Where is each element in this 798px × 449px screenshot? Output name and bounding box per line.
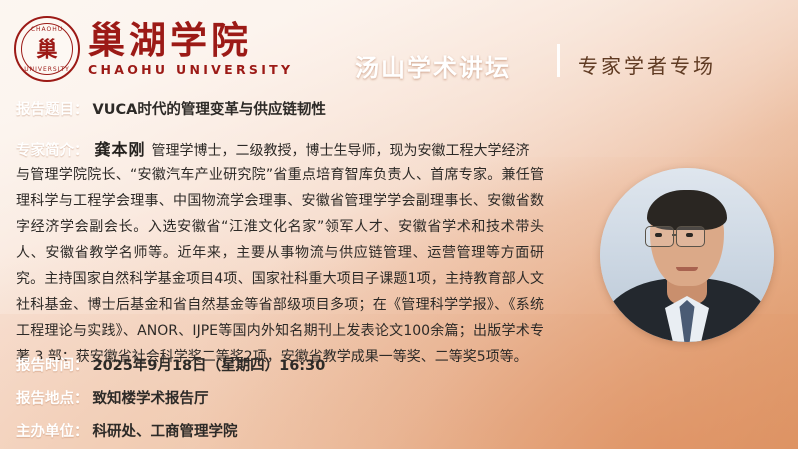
seal-bottom-text: UNIVERSITY (16, 66, 78, 73)
header-divider (557, 44, 560, 77)
speaker-lead-text: 管理学博士，二级教授，博士生导师，现为安徽工程大学经济 (152, 140, 530, 160)
seal-character: 巢 (16, 39, 78, 60)
portrait-eye-left (655, 233, 662, 237)
speaker-biography: 与管理学院院长、“安徽汽车产业研究院”省重点培育智库负责人、首席专家。兼任管理科… (16, 162, 544, 370)
speaker-intro-block: 专家简介： 龚本刚 管理学博士，二级教授，博士生导师，现为安徽工程大学经济 与管… (16, 136, 544, 370)
time-value: 2025年9月18日（星期四）16:30 (93, 354, 326, 375)
portrait-glasses-left (645, 226, 674, 247)
portrait-glasses-right (676, 226, 705, 247)
poster-header: CHAOHU 巢 UNIVERSITY 巢湖学院 CHAOHU UNIVERSI… (0, 0, 798, 92)
organizer-value: 科研处、工商管理学院 (93, 420, 238, 441)
speaker-label: 专家简介： (16, 139, 89, 160)
university-logo: CHAOHU 巢 UNIVERSITY 巢湖学院 CHAOHU UNIVERSI… (14, 16, 293, 82)
university-name-block: 巢湖学院 CHAOHU UNIVERSITY (88, 21, 293, 78)
seal-top-text: CHAOHU (16, 26, 78, 33)
portrait-eye-right (686, 233, 693, 237)
university-name-cn: 巢湖学院 (88, 21, 293, 60)
location-label: 报告地点： (16, 387, 89, 408)
forum-title: 汤山学术讲坛 (355, 48, 511, 83)
portrait-glasses-bridge (672, 234, 677, 236)
speaker-portrait (600, 168, 774, 342)
forum-subtitle: 专家学者专场 (578, 50, 716, 79)
topic-value: VUCA时代的管理变革与供应链韧性 (93, 98, 326, 119)
time-label: 报告时间： (16, 354, 89, 375)
topic-label: 报告题目： (16, 98, 89, 119)
organizer-label: 主办单位： (16, 420, 89, 441)
topic-row: 报告题目： VUCA时代的管理变革与供应链韧性 (16, 98, 326, 119)
info-row-organizer: 主办单位： 科研处、工商管理学院 (16, 420, 616, 441)
portrait-mouth (676, 267, 698, 271)
poster-canvas: CHAOHU 巢 UNIVERSITY 巢湖学院 CHAOHU UNIVERSI… (0, 0, 798, 449)
university-name-en: CHAOHU UNIVERSITY (88, 62, 293, 77)
university-seal-icon: CHAOHU 巢 UNIVERSITY (14, 16, 80, 82)
info-row-time: 报告时间： 2025年9月18日（星期四）16:30 (16, 354, 616, 375)
location-value: 致知楼学术报告厅 (93, 387, 209, 408)
info-row-location: 报告地点： 致知楼学术报告厅 (16, 387, 616, 408)
speaker-name: 龚本刚 (95, 136, 146, 160)
speaker-intro-first-line: 专家简介： 龚本刚 管理学博士，二级教授，博士生导师，现为安徽工程大学经济 (16, 136, 544, 160)
event-info-block: 报告时间： 2025年9月18日（星期四）16:30 报告地点： 致知楼学术报告… (16, 354, 616, 441)
